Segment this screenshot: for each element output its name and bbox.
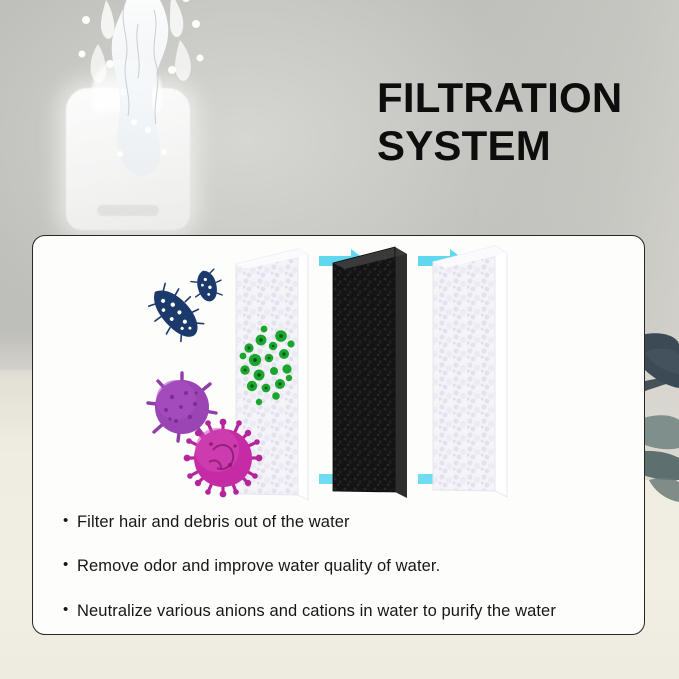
info-card: • Filter hair and debris out of the wate… [32, 235, 645, 635]
feature-text-3: Neutralize various anions and cations in… [77, 600, 623, 622]
bullet-glyph: • [63, 600, 77, 620]
bullet-glyph: • [63, 555, 77, 575]
blue-bacillus-small-icon [187, 266, 227, 307]
feature-text-2: Remove odor and improve water quality of… [77, 555, 623, 577]
list-item: • Filter hair and debris out of the wate… [63, 511, 623, 533]
title-line-1: FILTRATION [377, 74, 622, 121]
purple-virus-spiked-icon [148, 373, 216, 441]
feature-text-1: Filter hair and debris out of the water [77, 511, 623, 533]
filtration-diagram [33, 236, 645, 506]
list-item: • Remove odor and improve water quality … [63, 555, 623, 577]
water-vessel [66, 88, 190, 230]
list-item: • Neutralize various anions and cations … [63, 600, 623, 622]
product-infographic: FILTRATION SYSTEM [0, 0, 679, 679]
title-line-2: SYSTEM [377, 122, 677, 170]
page-title: FILTRATION SYSTEM [377, 74, 677, 170]
filter-layer-carbon [333, 247, 407, 498]
feature-list: • Filter hair and debris out of the wate… [63, 511, 623, 635]
bullet-glyph: • [63, 511, 77, 531]
filter-layer-ion-exchange [433, 246, 507, 497]
